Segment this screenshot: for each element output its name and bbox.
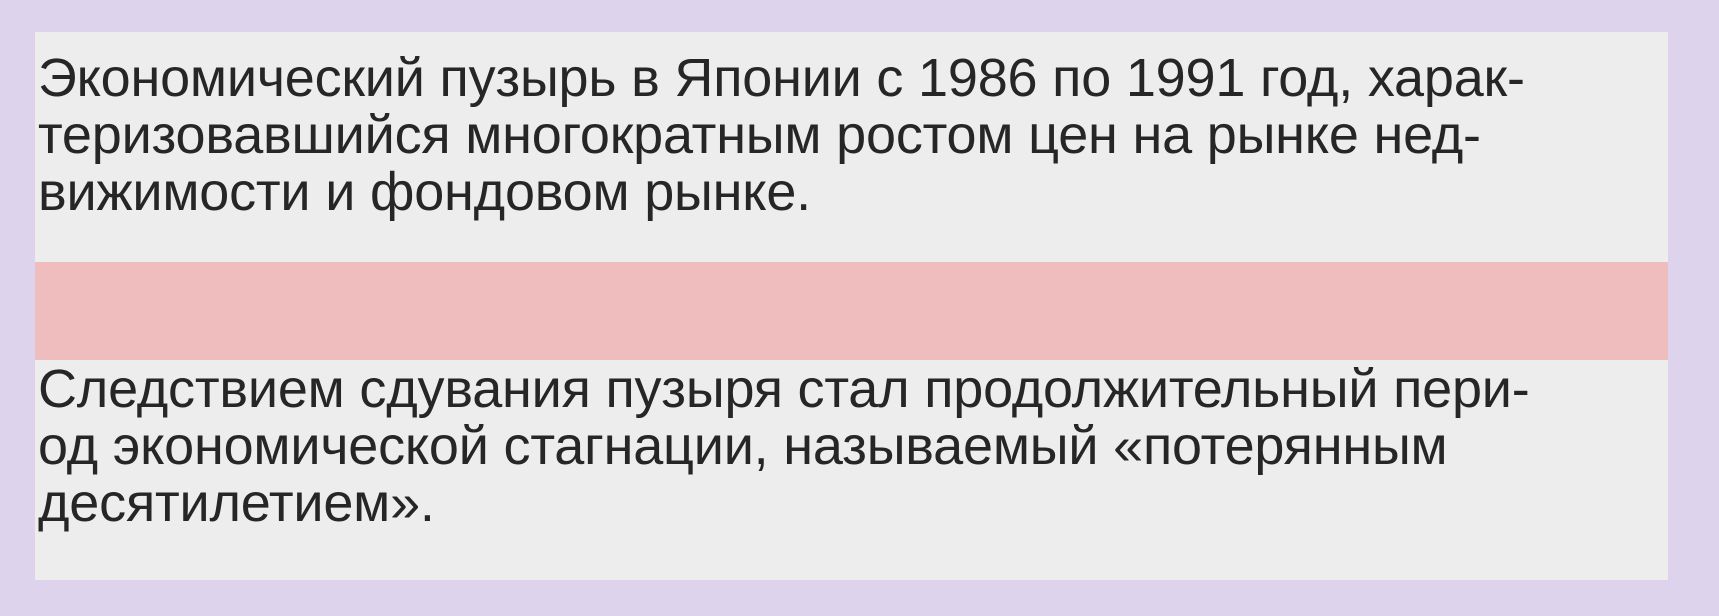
pink-highlight-band [35, 262, 1668, 360]
text-panel: Экономический пузырь в Японии с 1986 по … [35, 32, 1668, 580]
paragraph-block-one: Экономический пузырь в Японии с 1986 по … [38, 50, 1664, 221]
page-canvas: Экономический пузырь в Японии с 1986 по … [0, 0, 1719, 616]
paragraph-block-two: Следствием сдувания пузыря стал продолжи… [38, 361, 1664, 532]
